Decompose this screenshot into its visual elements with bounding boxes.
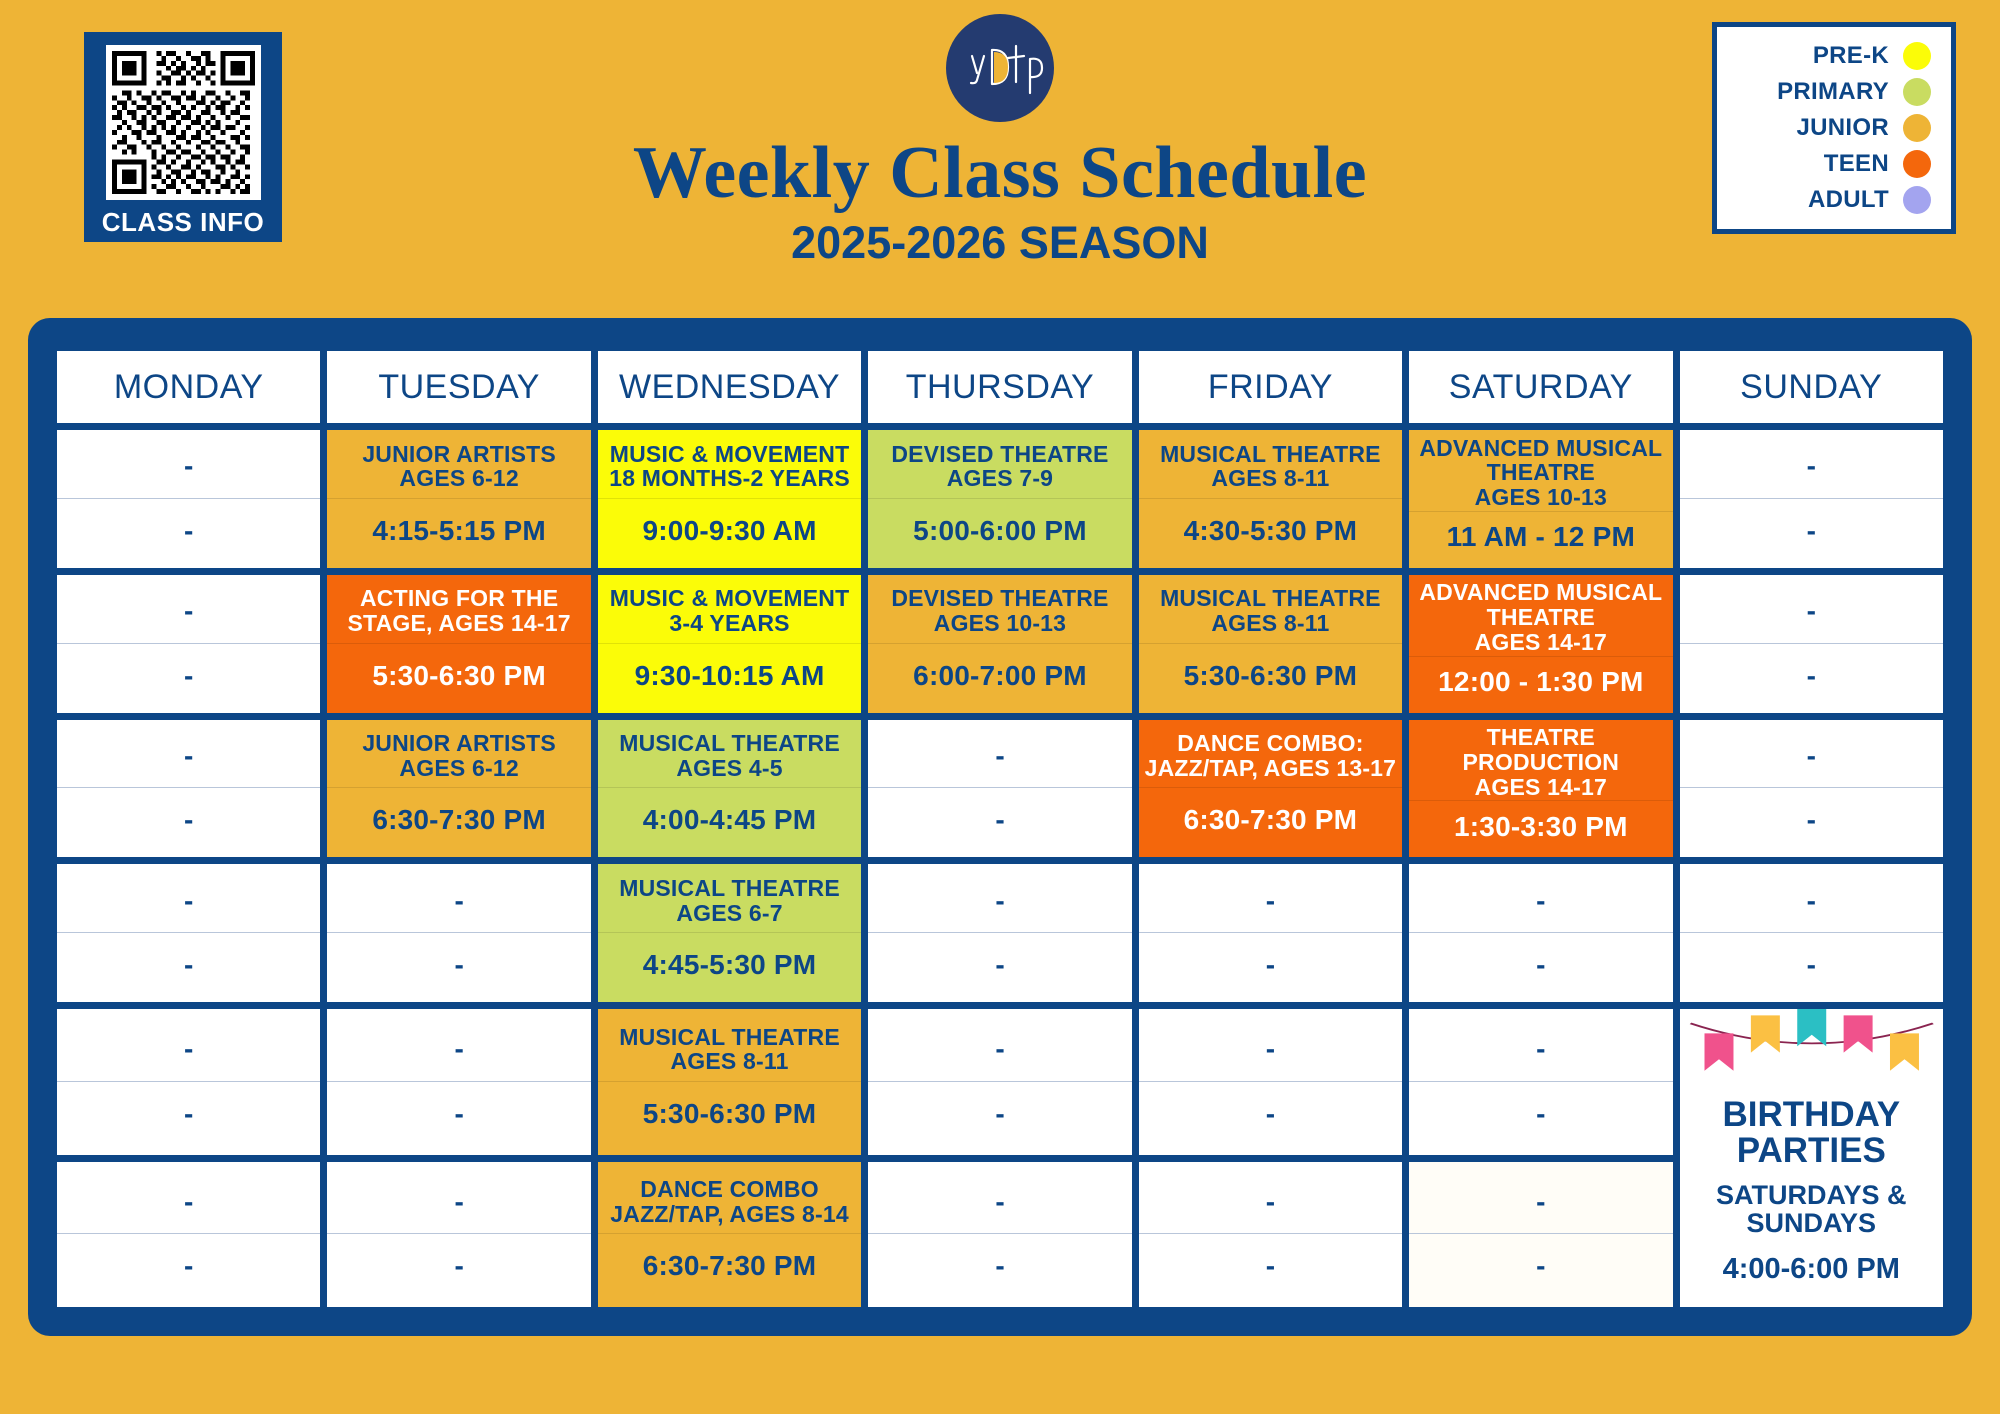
empty-mark: - <box>184 804 193 836</box>
class-slot-wednesday[interactable]: MUSIC & MOVEMENT3-4 YEARS9:30-10:15 AM <box>598 575 861 713</box>
empty-mark: - <box>1807 515 1816 547</box>
empty-slot-saturday: -- <box>1409 864 1672 1002</box>
birthday-days: SATURDAYS &SUNDAYS <box>1716 1181 1907 1238</box>
empty-slot-tuesday: -- <box>327 1162 590 1307</box>
class-time: 6:30-7:30 PM <box>372 804 546 836</box>
class-slot-saturday[interactable]: THEATREPRODUCTIONAGES 14-171:30-3:30 PM <box>1409 720 1672 858</box>
class-slot-friday[interactable]: DANCE COMBO:JAZZ/TAP, AGES 13-176:30-7:3… <box>1139 720 1402 858</box>
legend-item-pre-k: PRE-K <box>1717 38 1951 74</box>
class-slot-tuesday[interactable]: ACTING FOR THESTAGE, AGES 14-175:30-6:30… <box>327 575 590 713</box>
class-time: 9:00-9:30 AM <box>643 515 817 547</box>
legend-label: TEEN <box>1824 150 1889 178</box>
legend-label: PRE-K <box>1813 42 1889 70</box>
empty-slot-monday: -- <box>57 720 320 858</box>
class-slot-wednesday[interactable]: DANCE COMBOJAZZ/TAP, AGES 8-146:30-7:30 … <box>598 1162 861 1307</box>
legend-item-adult: ADULT <box>1717 182 1951 218</box>
empty-mark: - <box>454 885 463 917</box>
class-name: MUSICAL THEATREAGES 8-11 <box>1160 442 1381 492</box>
class-name: DANCE COMBO:JAZZ/TAP, AGES 13-17 <box>1145 731 1397 781</box>
empty-slot-sunday: -- <box>1680 575 1943 713</box>
empty-mark: - <box>184 1186 193 1218</box>
schedule-row: --JUNIOR ARTISTSAGES 6-126:30-7:30 PMMUS… <box>57 720 1943 858</box>
empty-mark: - <box>1536 1186 1545 1218</box>
empty-mark: - <box>995 1186 1004 1218</box>
empty-slot-saturday: -- <box>1409 1162 1672 1307</box>
class-time: 5:30-6:30 PM <box>643 1098 817 1130</box>
empty-mark: - <box>184 450 193 482</box>
class-time: 5:30-6:30 PM <box>1184 660 1358 692</box>
empty-mark: - <box>1807 949 1816 981</box>
empty-mark: - <box>1807 740 1816 772</box>
empty-mark: - <box>995 885 1004 917</box>
class-time: 11 AM - 12 PM <box>1447 521 1635 553</box>
empty-mark: - <box>454 1250 463 1282</box>
class-time: 4:00-4:45 PM <box>643 804 817 836</box>
legend-color-swatch <box>1903 114 1931 142</box>
empty-mark: - <box>1536 885 1545 917</box>
empty-mark: - <box>1807 885 1816 917</box>
page-title: Weekly Class Schedule <box>0 136 2000 210</box>
empty-mark: - <box>1536 1033 1545 1065</box>
empty-mark: - <box>184 949 193 981</box>
day-header-friday: FRIDAY <box>1139 351 1402 423</box>
class-name: THEATREPRODUCTIONAGES 14-17 <box>1463 725 1620 799</box>
schedule-row: ----MUSICAL THEATREAGES 6-74:45-5:30 PM-… <box>57 864 1943 1002</box>
empty-mark: - <box>184 1033 193 1065</box>
empty-slot-monday: -- <box>57 1162 320 1307</box>
day-header-tuesday: TUESDAY <box>327 351 590 423</box>
day-header-monday: MONDAY <box>57 351 320 423</box>
class-time: 6:30-7:30 PM <box>1184 804 1358 836</box>
day-header-sunday: SUNDAY <box>1680 351 1943 423</box>
empty-slot-thursday: -- <box>868 864 1131 1002</box>
class-name: MUSIC & MOVEMENT18 MONTHS-2 YEARS <box>609 442 850 492</box>
empty-mark: - <box>184 515 193 547</box>
class-name: JUNIOR ARTISTSAGES 6-12 <box>362 442 556 492</box>
class-name: MUSICAL THEATREAGES 8-11 <box>619 1025 840 1075</box>
class-slot-wednesday[interactable]: MUSICAL THEATREAGES 8-115:30-6:30 PM <box>598 1009 861 1154</box>
birthday-title: BIRTHDAYPARTIES <box>1722 1097 1900 1168</box>
empty-mark: - <box>1807 660 1816 692</box>
class-slot-friday[interactable]: MUSICAL THEATREAGES 8-114:30-5:30 PM <box>1139 430 1402 568</box>
class-slot-friday[interactable]: MUSICAL THEATREAGES 8-115:30-6:30 PM <box>1139 575 1402 713</box>
empty-mark: - <box>995 740 1004 772</box>
class-name: DANCE COMBOJAZZ/TAP, AGES 8-14 <box>610 1177 849 1227</box>
empty-mark: - <box>1807 595 1816 627</box>
legend-item-teen: TEEN <box>1717 146 1951 182</box>
empty-mark: - <box>1536 1098 1545 1130</box>
empty-slot-friday: -- <box>1139 1009 1402 1154</box>
empty-mark: - <box>184 885 193 917</box>
class-name: DEVISED THEATREAGES 10-13 <box>891 586 1108 636</box>
empty-mark: - <box>1266 885 1275 917</box>
day-header-thursday: THURSDAY <box>868 351 1131 423</box>
weekly-schedule-table: MONDAYTUESDAYWEDNESDAYTHURSDAYFRIDAYSATU… <box>50 344 1950 1314</box>
class-time: 9:30-10:15 AM <box>635 660 825 692</box>
empty-slot-friday: -- <box>1139 864 1402 1002</box>
class-time: 4:30-5:30 PM <box>1184 515 1358 547</box>
empty-mark: - <box>1266 949 1275 981</box>
class-time: 6:00-7:00 PM <box>913 660 1087 692</box>
empty-mark: - <box>995 1098 1004 1130</box>
empty-mark: - <box>995 1033 1004 1065</box>
class-slot-saturday[interactable]: ADVANCED MUSICALTHEATREAGES 14-1712:00 -… <box>1409 575 1672 713</box>
empty-mark: - <box>184 595 193 627</box>
legend-color-swatch <box>1903 186 1931 214</box>
class-time: 4:45-5:30 PM <box>643 949 817 981</box>
class-slot-wednesday[interactable]: MUSICAL THEATREAGES 6-74:45-5:30 PM <box>598 864 861 1002</box>
empty-mark: - <box>1266 1098 1275 1130</box>
class-slot-wednesday[interactable]: MUSICAL THEATREAGES 4-54:00-4:45 PM <box>598 720 861 858</box>
class-name: MUSICAL THEATREAGES 6-7 <box>619 876 840 926</box>
title-block: Weekly Class Schedule 2025-2026 SEASON <box>0 14 2000 265</box>
legend-color-swatch <box>1903 42 1931 70</box>
empty-mark: - <box>1266 1186 1275 1218</box>
day-header-saturday: SATURDAY <box>1409 351 1672 423</box>
day-header-row: MONDAYTUESDAYWEDNESDAYTHURSDAYFRIDAYSATU… <box>57 351 1943 423</box>
empty-mark: - <box>184 1250 193 1282</box>
schedule-row: --ACTING FOR THESTAGE, AGES 14-175:30-6:… <box>57 575 1943 713</box>
empty-slot-monday: -- <box>57 575 320 713</box>
legend-color-swatch <box>1903 78 1931 106</box>
class-slot-tuesday[interactable]: JUNIOR ARTISTSAGES 6-124:15-5:15 PM <box>327 430 590 568</box>
empty-slot-saturday: -- <box>1409 1009 1672 1154</box>
empty-slot-monday: -- <box>57 430 320 568</box>
empty-slot-sunday: -- <box>1680 720 1943 858</box>
class-name: ADVANCED MUSICALTHEATREAGES 10-13 <box>1419 436 1662 510</box>
empty-mark: - <box>454 1098 463 1130</box>
schedule-panel: MONDAYTUESDAYWEDNESDAYTHURSDAYFRIDAYSATU… <box>28 318 1972 1336</box>
class-slot-thursday[interactable]: DEVISED THEATREAGES 10-136:00-7:00 PM <box>868 575 1131 713</box>
empty-slot-friday: -- <box>1139 1162 1402 1307</box>
empty-slot-thursday: -- <box>868 720 1131 858</box>
class-time: 4:15-5:15 PM <box>372 515 546 547</box>
legend-color-swatch <box>1903 150 1931 178</box>
class-slot-tuesday[interactable]: JUNIOR ARTISTSAGES 6-126:30-7:30 PM <box>327 720 590 858</box>
empty-mark: - <box>995 949 1004 981</box>
empty-mark: - <box>1807 450 1816 482</box>
class-time: 5:30-6:30 PM <box>372 660 546 692</box>
class-name: ADVANCED MUSICALTHEATREAGES 14-17 <box>1419 580 1662 654</box>
birthday-parties-cell[interactable]: BIRTHDAYPARTIESSATURDAYS &SUNDAYS4:00-6:… <box>1680 1009 1943 1307</box>
class-name: MUSIC & MOVEMENT3-4 YEARS <box>610 586 850 636</box>
class-time: 1:30-3:30 PM <box>1454 811 1628 843</box>
class-time: 5:00-6:00 PM <box>913 515 1087 547</box>
class-time: 6:30-7:30 PM <box>643 1250 817 1282</box>
legend-label: ADULT <box>1808 186 1889 214</box>
birthday-time: 4:00-6:00 PM <box>1723 1253 1900 1286</box>
empty-mark: - <box>454 1033 463 1065</box>
empty-mark: - <box>184 740 193 772</box>
empty-mark: - <box>454 949 463 981</box>
empty-slot-monday: -- <box>57 864 320 1002</box>
empty-mark: - <box>184 1098 193 1130</box>
empty-slot-monday: -- <box>57 1009 320 1154</box>
class-name: MUSICAL THEATREAGES 8-11 <box>1160 586 1381 636</box>
empty-mark: - <box>1536 949 1545 981</box>
empty-mark: - <box>995 804 1004 836</box>
empty-mark: - <box>1266 1033 1275 1065</box>
empty-slot-tuesday: -- <box>327 864 590 1002</box>
empty-slot-sunday: -- <box>1680 430 1943 568</box>
schedule-row: --JUNIOR ARTISTSAGES 6-124:15-5:15 PMMUS… <box>57 430 1943 568</box>
empty-mark: - <box>454 1186 463 1218</box>
empty-slot-thursday: -- <box>868 1009 1131 1154</box>
schedule-row: ----DANCE COMBOJAZZ/TAP, AGES 8-146:30-7… <box>57 1162 1943 1307</box>
schedule-row: ----MUSICAL THEATREAGES 8-115:30-6:30 PM… <box>57 1009 1943 1154</box>
page-header: CLASS INFO Weekly Class Schedule 2025-20… <box>0 0 2000 300</box>
class-name: DEVISED THEATREAGES 7-9 <box>891 442 1108 492</box>
day-header-wednesday: WEDNESDAY <box>598 351 861 423</box>
empty-mark: - <box>1807 804 1816 836</box>
class-time: 12:00 - 1:30 PM <box>1438 666 1643 698</box>
legend-item-junior: JUNIOR <box>1717 110 1951 146</box>
level-legend: PRE-KPRIMARYJUNIORTEENADULT <box>1712 22 1956 234</box>
class-slot-wednesday[interactable]: MUSIC & MOVEMENT18 MONTHS-2 YEARS9:00-9:… <box>598 430 861 568</box>
empty-slot-sunday: -- <box>1680 864 1943 1002</box>
legend-label: JUNIOR <box>1797 114 1889 142</box>
bunting-banner-icon <box>1680 1009 1943 1095</box>
class-name: MUSICAL THEATREAGES 4-5 <box>619 731 840 781</box>
empty-mark: - <box>184 660 193 692</box>
class-name: JUNIOR ARTISTSAGES 6-12 <box>362 731 556 781</box>
ydtp-logo-icon <box>946 14 1054 122</box>
empty-mark: - <box>995 1250 1004 1282</box>
class-slot-saturday[interactable]: ADVANCED MUSICALTHEATREAGES 10-1311 AM -… <box>1409 430 1672 568</box>
class-name: ACTING FOR THESTAGE, AGES 14-17 <box>348 586 571 636</box>
empty-mark: - <box>1266 1250 1275 1282</box>
legend-label: PRIMARY <box>1777 78 1889 106</box>
empty-mark: - <box>1536 1250 1545 1282</box>
class-slot-thursday[interactable]: DEVISED THEATREAGES 7-95:00-6:00 PM <box>868 430 1131 568</box>
legend-item-primary: PRIMARY <box>1717 74 1951 110</box>
empty-slot-tuesday: -- <box>327 1009 590 1154</box>
empty-slot-thursday: -- <box>868 1162 1131 1307</box>
page-subtitle: 2025-2026 SEASON <box>0 220 2000 265</box>
